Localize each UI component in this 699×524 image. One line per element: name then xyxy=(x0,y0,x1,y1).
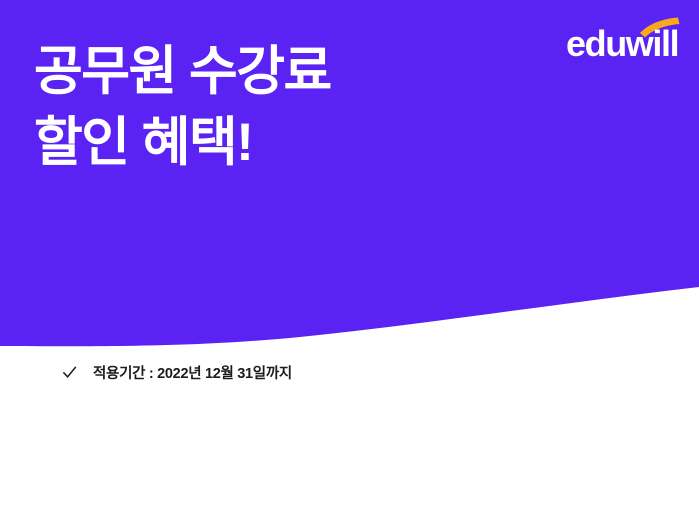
eduwill-logo[interactable]: eduwill xyxy=(566,14,684,62)
check-icon xyxy=(62,365,77,380)
headline: 공무원 수강료 할인 혜택! xyxy=(34,36,554,178)
validity-period-text: 적용기간 : 2022년 12월 31일까지 xyxy=(93,362,292,383)
eduwill-logo-mark: eduwill xyxy=(566,14,684,62)
promo-banner: eduwill 공무원 수강료 할인 혜택! 적용기간 : 2022년 12월 … xyxy=(0,0,699,524)
logo-wordmark: eduwill xyxy=(566,23,678,64)
validity-period-row: 적용기간 : 2022년 12월 31일까지 xyxy=(62,362,292,383)
